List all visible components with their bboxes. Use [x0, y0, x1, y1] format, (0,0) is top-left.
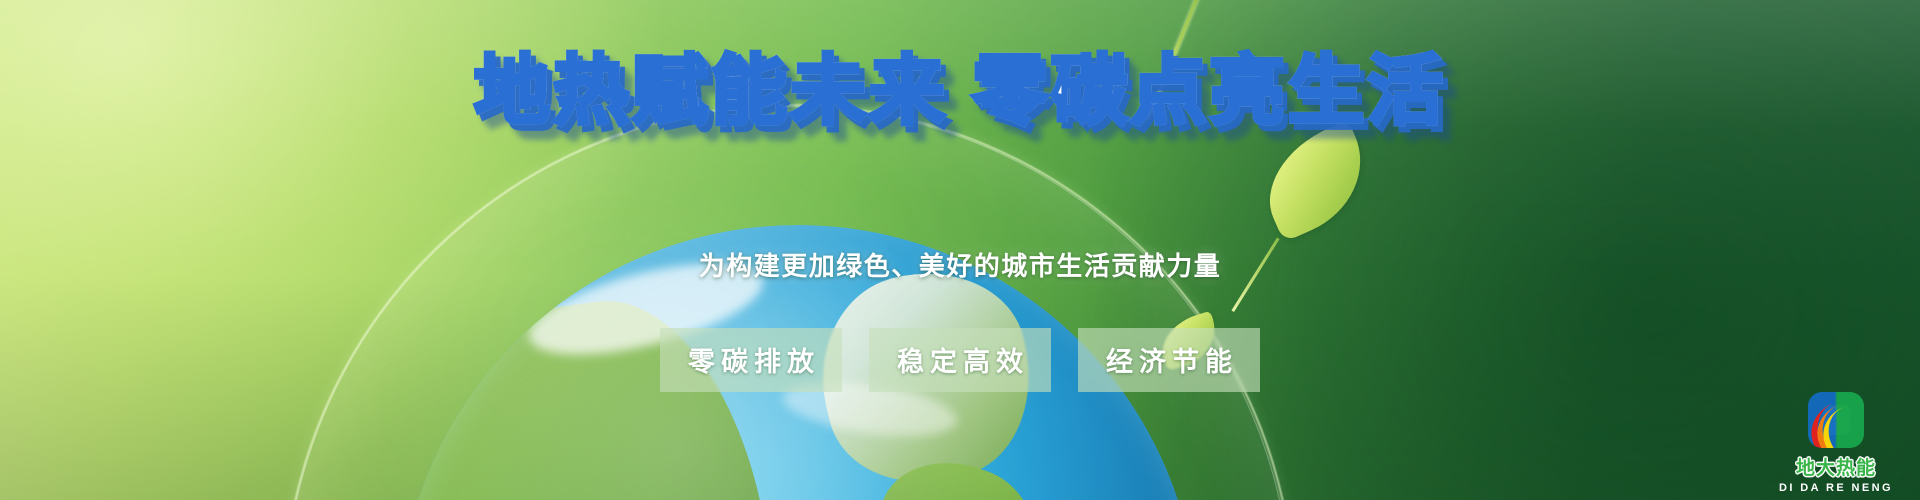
- brand-logo[interactable]: 地大热能 DI DA RE NENG: [1774, 392, 1898, 494]
- logo-name-cn: 地大热能: [1774, 453, 1898, 480]
- feature-tag-zero-carbon[interactable]: 零碳排放: [660, 328, 842, 392]
- sprout-leaf-large: [1249, 120, 1383, 242]
- logo-mark-icon: [1808, 392, 1864, 448]
- feature-tag-economic-saving[interactable]: 经济节能: [1078, 328, 1260, 392]
- page-subtitle: 为构建更加绿色、美好的城市生活贡献力量: [0, 246, 1920, 283]
- promo-banner: 地热赋能未来 零碳点亮生活 为构建更加绿色、美好的城市生活贡献力量 零碳排放 稳…: [0, 0, 1920, 500]
- green-sprout-icon: [1150, 120, 1510, 450]
- feature-tag-list: 零碳排放 稳定高效 经济节能: [0, 328, 1920, 392]
- feature-tag-stable-efficient[interactable]: 稳定高效: [869, 328, 1051, 392]
- logo-name-en: DI DA RE NENG: [1774, 482, 1898, 494]
